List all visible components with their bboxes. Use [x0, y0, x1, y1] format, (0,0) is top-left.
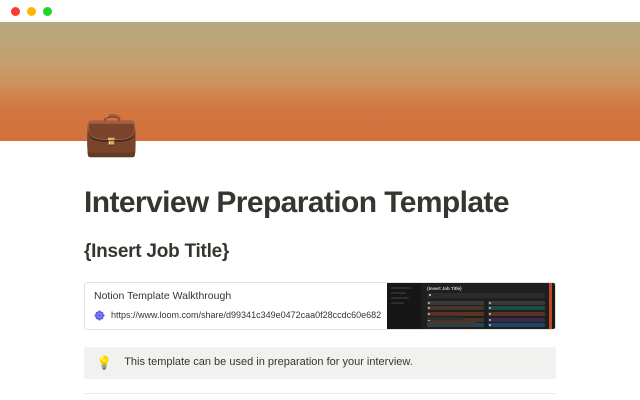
thumbnail-sidebar — [387, 283, 421, 329]
briefcase-icon[interactable]: 💼 — [84, 112, 139, 156]
callout-block[interactable]: 💡 This template can be used in preparati… — [84, 347, 556, 379]
bookmark-card[interactable]: Notion Template Walkthrough — [84, 282, 556, 330]
thumbnail-row — [488, 323, 545, 327]
thumbnail-row — [488, 306, 545, 310]
thumbnail-sidebar-item — [391, 292, 406, 294]
thumbnail-accent-bar — [549, 283, 552, 329]
thumbnail-column — [488, 301, 545, 327]
thumbnail-row — [488, 312, 545, 316]
thumbnail-footer-heading — [427, 322, 477, 326]
thumbnail-sidebar-item — [391, 287, 411, 289]
page-content: Interview Preparation Template {Insert J… — [0, 141, 640, 400]
bookmark-link-row[interactable]: https://www.loom.com/share/d99341c349e04… — [94, 310, 387, 321]
page-divider — [84, 393, 556, 394]
thumbnail-row — [427, 312, 484, 316]
thumbnail-callout — [427, 293, 545, 298]
thumbnail-row — [488, 318, 545, 322]
thumbnail-footer-line — [427, 317, 463, 320]
thumbnail-sidebar-item — [391, 302, 404, 304]
close-window-button[interactable] — [11, 7, 20, 16]
bookmark-info: Notion Template Walkthrough — [85, 283, 387, 329]
minimize-window-button[interactable] — [27, 7, 36, 16]
thumbnail-row — [427, 306, 484, 310]
thumbnail-row — [427, 301, 484, 305]
lightbulb-icon: 💡 — [96, 356, 112, 369]
app-window: 💼 Interview Preparation Template {Insert… — [0, 0, 640, 400]
bookmark-title: Notion Template Walkthrough — [94, 289, 387, 303]
bookmark-url[interactable]: https://www.loom.com/share/d99341c349e04… — [111, 310, 381, 321]
loom-favicon-icon — [94, 310, 105, 321]
job-title-heading: {Insert Job Title} — [84, 219, 556, 264]
thumbnail-row — [488, 301, 545, 305]
bookmark-thumbnail: {Insert Job Title} — [387, 283, 555, 329]
callout-text: This template can be used in preparation… — [124, 355, 413, 370]
thumbnail-heading: {Insert Job Title} — [427, 286, 462, 291]
thumbnail-sidebar-item — [391, 297, 409, 299]
maximize-window-button[interactable] — [43, 7, 52, 16]
page-title: Interview Preparation Template — [84, 141, 556, 219]
window-title-bar — [0, 0, 640, 22]
